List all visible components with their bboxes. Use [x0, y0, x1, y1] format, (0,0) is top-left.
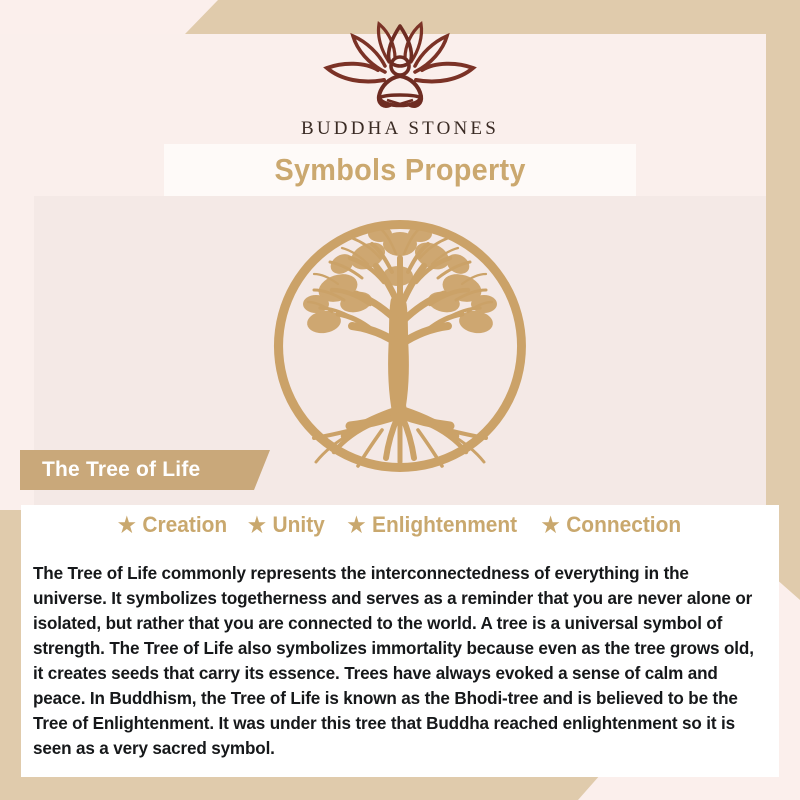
- tree-of-life-graphic: [272, 218, 528, 474]
- keyword-label: Connection: [566, 512, 681, 538]
- section-banner-label: The Tree of Life: [20, 458, 200, 482]
- keyword-item: ★ Enlightenment: [348, 512, 518, 538]
- star-icon: ★: [118, 515, 136, 536]
- star-icon: ★: [542, 515, 560, 536]
- lotus-meditation-figure-icon: [305, 18, 495, 114]
- brand-logo: BUDDHA STONES: [0, 18, 800, 140]
- content-card: ★ Creation ★ Unity ★ Enlightenment ★ Con…: [21, 505, 779, 777]
- page-title: Symbols Property: [274, 152, 525, 188]
- keyword-label: Enlightenment: [372, 512, 517, 538]
- section-banner: The Tree of Life: [20, 450, 270, 490]
- keyword-list: ★ Creation ★ Unity ★ Enlightenment ★ Con…: [21, 505, 779, 538]
- star-icon: ★: [348, 515, 366, 536]
- title-strip: Symbols Property: [164, 144, 636, 196]
- infographic-page: BUDDHA STONES Symbols Property: [0, 0, 800, 800]
- tree-of-life-medallion-icon: [272, 218, 528, 474]
- keyword-item: ★ Creation: [118, 512, 227, 538]
- keyword-label: Creation: [143, 512, 228, 538]
- keyword-label: Unity: [273, 512, 325, 538]
- description-paragraph: The Tree of Life commonly represents the…: [21, 555, 779, 761]
- keyword-item: ★ Unity: [248, 512, 325, 538]
- brand-name: BUDDHA STONES: [0, 118, 800, 140]
- star-icon: ★: [248, 515, 266, 536]
- keyword-item: ★ Connection: [542, 512, 681, 538]
